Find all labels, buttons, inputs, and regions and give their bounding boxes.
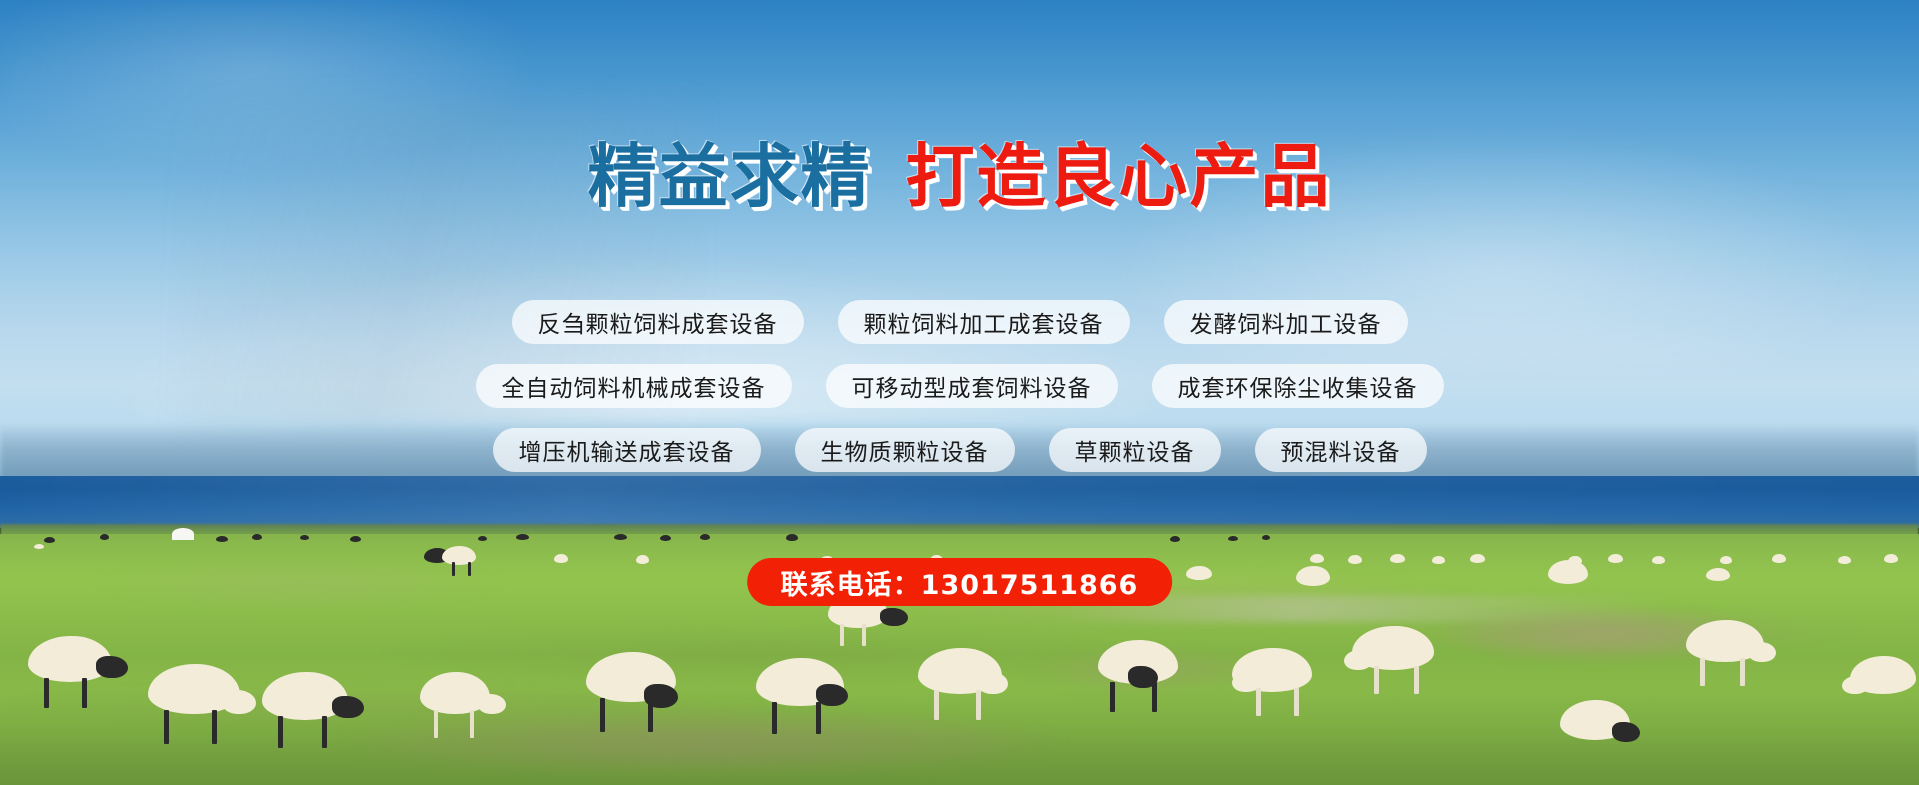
sheep-head [1344,650,1372,670]
sheep [1884,554,1898,563]
product-pill-fermented-feed-processing-equipment[interactable]: 发酵饲料加工设备 [1164,300,1408,344]
contact-phone-banner[interactable]: 联系电话：13017511866 [747,558,1173,606]
sheep-leg [816,702,821,734]
sheep [1310,554,1324,563]
sheep-head [1612,722,1640,742]
product-pill-complete-environmental-dust-collection-equipment[interactable]: 成套环保除尘收集设备 [1152,364,1444,408]
product-pill-premix-equipment[interactable]: 预混料设备 [1255,428,1427,472]
sheep [300,535,309,540]
sheep-leg [648,698,653,732]
sheep [100,534,109,540]
sheep [614,534,627,540]
sheep [1262,535,1270,540]
sheep [1772,554,1786,563]
sheep-leg [278,716,283,748]
sheep [1652,556,1665,564]
sheep-leg [600,698,605,732]
sheep-head [96,656,128,678]
product-pill-groups: 反刍颗粒饲料成套设备 颗粒饲料加工成套设备 发酵饲料加工设备 全自动饲料机械成套… [0,300,1919,492]
product-pill-fully-automatic-feed-machinery-complete-equipment[interactable]: 全自动饲料机械成套设备 [476,364,792,408]
sheep-leg [934,690,939,720]
product-pill-pellet-feed-processing-complete-equipment[interactable]: 颗粒饲料加工成套设备 [838,300,1130,344]
product-pill-ruminant-pellet-feed-complete-equipment[interactable]: 反刍颗粒饲料成套设备 [512,300,804,344]
sheep [516,534,529,540]
sheep [1470,554,1485,563]
sheep [660,535,671,541]
sheep-leg [468,562,471,576]
sheep [700,534,710,540]
sheep-head [478,694,506,714]
sheep [34,544,44,549]
product-pill-grass-pellet-equipment[interactable]: 草颗粒设备 [1049,428,1221,472]
sheep-leg [772,702,777,734]
dirt-patch [250,700,1150,785]
sheep-leg [1700,658,1705,686]
sheep [44,537,55,543]
sheep-leg [840,624,844,646]
sheep [350,536,361,542]
sheep [1432,556,1445,564]
sheep [1548,560,1588,584]
sheep [1348,555,1362,564]
banner-stage: 精益求精打造良心产品 反刍颗粒饲料成套设备 颗粒饲料加工成套设备 发酵饲料加工设… [0,0,1919,785]
sheep [216,536,228,542]
product-pill-mobile-complete-feed-equipment[interactable]: 可移动型成套饲料设备 [826,364,1118,408]
headline-blue-text: 精益求精 [588,137,872,217]
sheep-leg [470,710,474,738]
sheep-head [222,690,256,714]
sheep-head [1748,642,1776,662]
sheep-leg [1110,682,1115,712]
sheep-leg [452,562,455,576]
sheep [1186,566,1212,580]
sheep [1228,536,1238,541]
sheep [1296,566,1330,586]
sheep-leg [44,678,49,708]
sheep-leg [1294,688,1299,716]
sheep-leg [862,624,866,646]
sheep-leg [212,710,217,744]
pill-row-1: 反刍颗粒饲料成套设备 颗粒饲料加工成套设备 发酵饲料加工设备 [0,300,1919,344]
sheep-leg [322,716,327,748]
product-pill-biomass-pellet-equipment[interactable]: 生物质颗粒设备 [795,428,1015,472]
sheep-leg [82,678,87,708]
sheep [1608,554,1623,563]
product-pill-booster-conveying-complete-equipment[interactable]: 增压机输送成套设备 [493,428,761,472]
sheep-leg [976,690,981,720]
sheep [478,536,487,541]
sheep-head [880,608,908,626]
sheep-leg [434,710,438,738]
sheep-head [978,672,1008,694]
sheep-leg [1256,688,1261,716]
sheep-leg [1740,658,1745,686]
tent [172,528,194,540]
sheep [1720,556,1732,564]
sheep [1838,556,1851,564]
sheep [636,555,649,564]
sheep [252,534,262,540]
sheep [554,554,568,563]
pill-row-3: 增压机输送成套设备 生物质颗粒设备 草颗粒设备 预混料设备 [0,428,1919,472]
sheep [1390,554,1405,563]
sheep [1170,536,1180,542]
sheep-leg [1374,666,1379,694]
sheep-leg [1414,666,1419,694]
pill-row-2: 全自动饲料机械成套设备 可移动型成套饲料设备 成套环保除尘收集设备 [0,364,1919,408]
sheep-head [1842,676,1868,694]
sheep [786,534,798,541]
headline-red-text: 打造良心产品 [906,137,1332,217]
sheep-leg [1152,682,1157,712]
sheep [1706,568,1730,581]
sheep-head [332,696,364,718]
sheep-leg [164,710,169,744]
page-title: 精益求精打造良心产品 [0,143,1919,212]
